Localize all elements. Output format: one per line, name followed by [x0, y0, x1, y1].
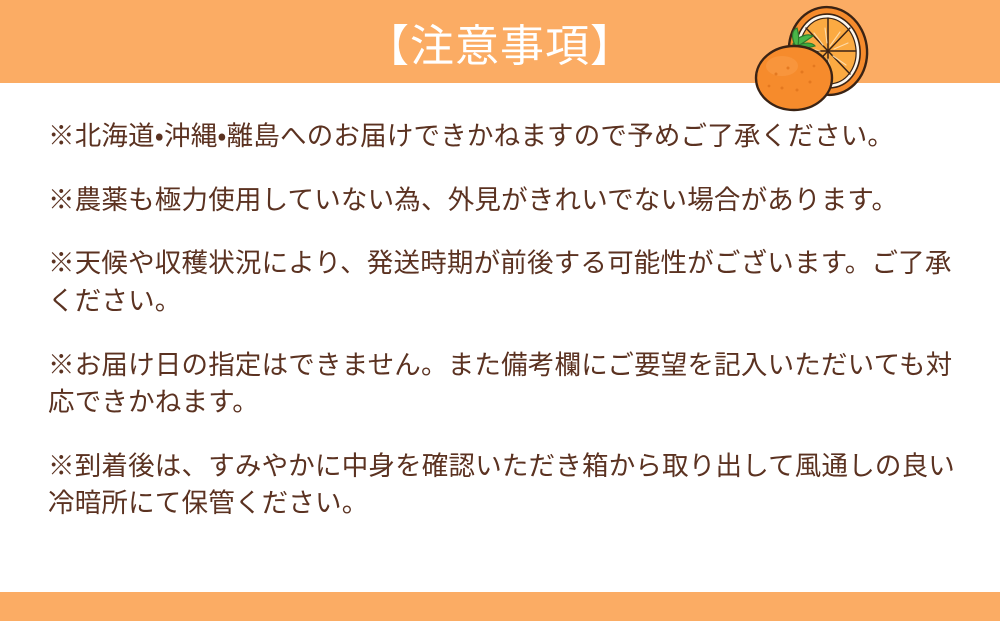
list-item-note-after-arrival: ※到着後は、すみやかに中身を確認いただき箱から取り出して風通しの良い冷暗所にて保… — [48, 448, 958, 523]
list-item-note-weather-harvest: ※天候や収穫状況により、発送時期が前後する可能性がございます。ご了承ください。 — [48, 245, 958, 320]
footer-band — [0, 592, 1000, 621]
page-title: 【注意事項】 — [0, 0, 1000, 83]
list-item-note-pesticide-appearance: ※農薬も極力使用していない為、外見がきれいでない場合があります。 — [48, 182, 958, 220]
list-item-note-shipping-area: ※北海道・沖縄・離島へのお届けできかねますので予めご了承ください。 — [48, 118, 958, 156]
list-item-note-delivery-date: ※お届け日の指定はできません。また備考欄にご要望を記入いただいても対応できかねま… — [48, 347, 958, 422]
notice-page: 【注意事項】 — [0, 0, 1000, 621]
notes-list: ※北海道・沖縄・離島へのお届けできかねますので予めご了承ください。 ※農薬も極力… — [48, 118, 958, 523]
